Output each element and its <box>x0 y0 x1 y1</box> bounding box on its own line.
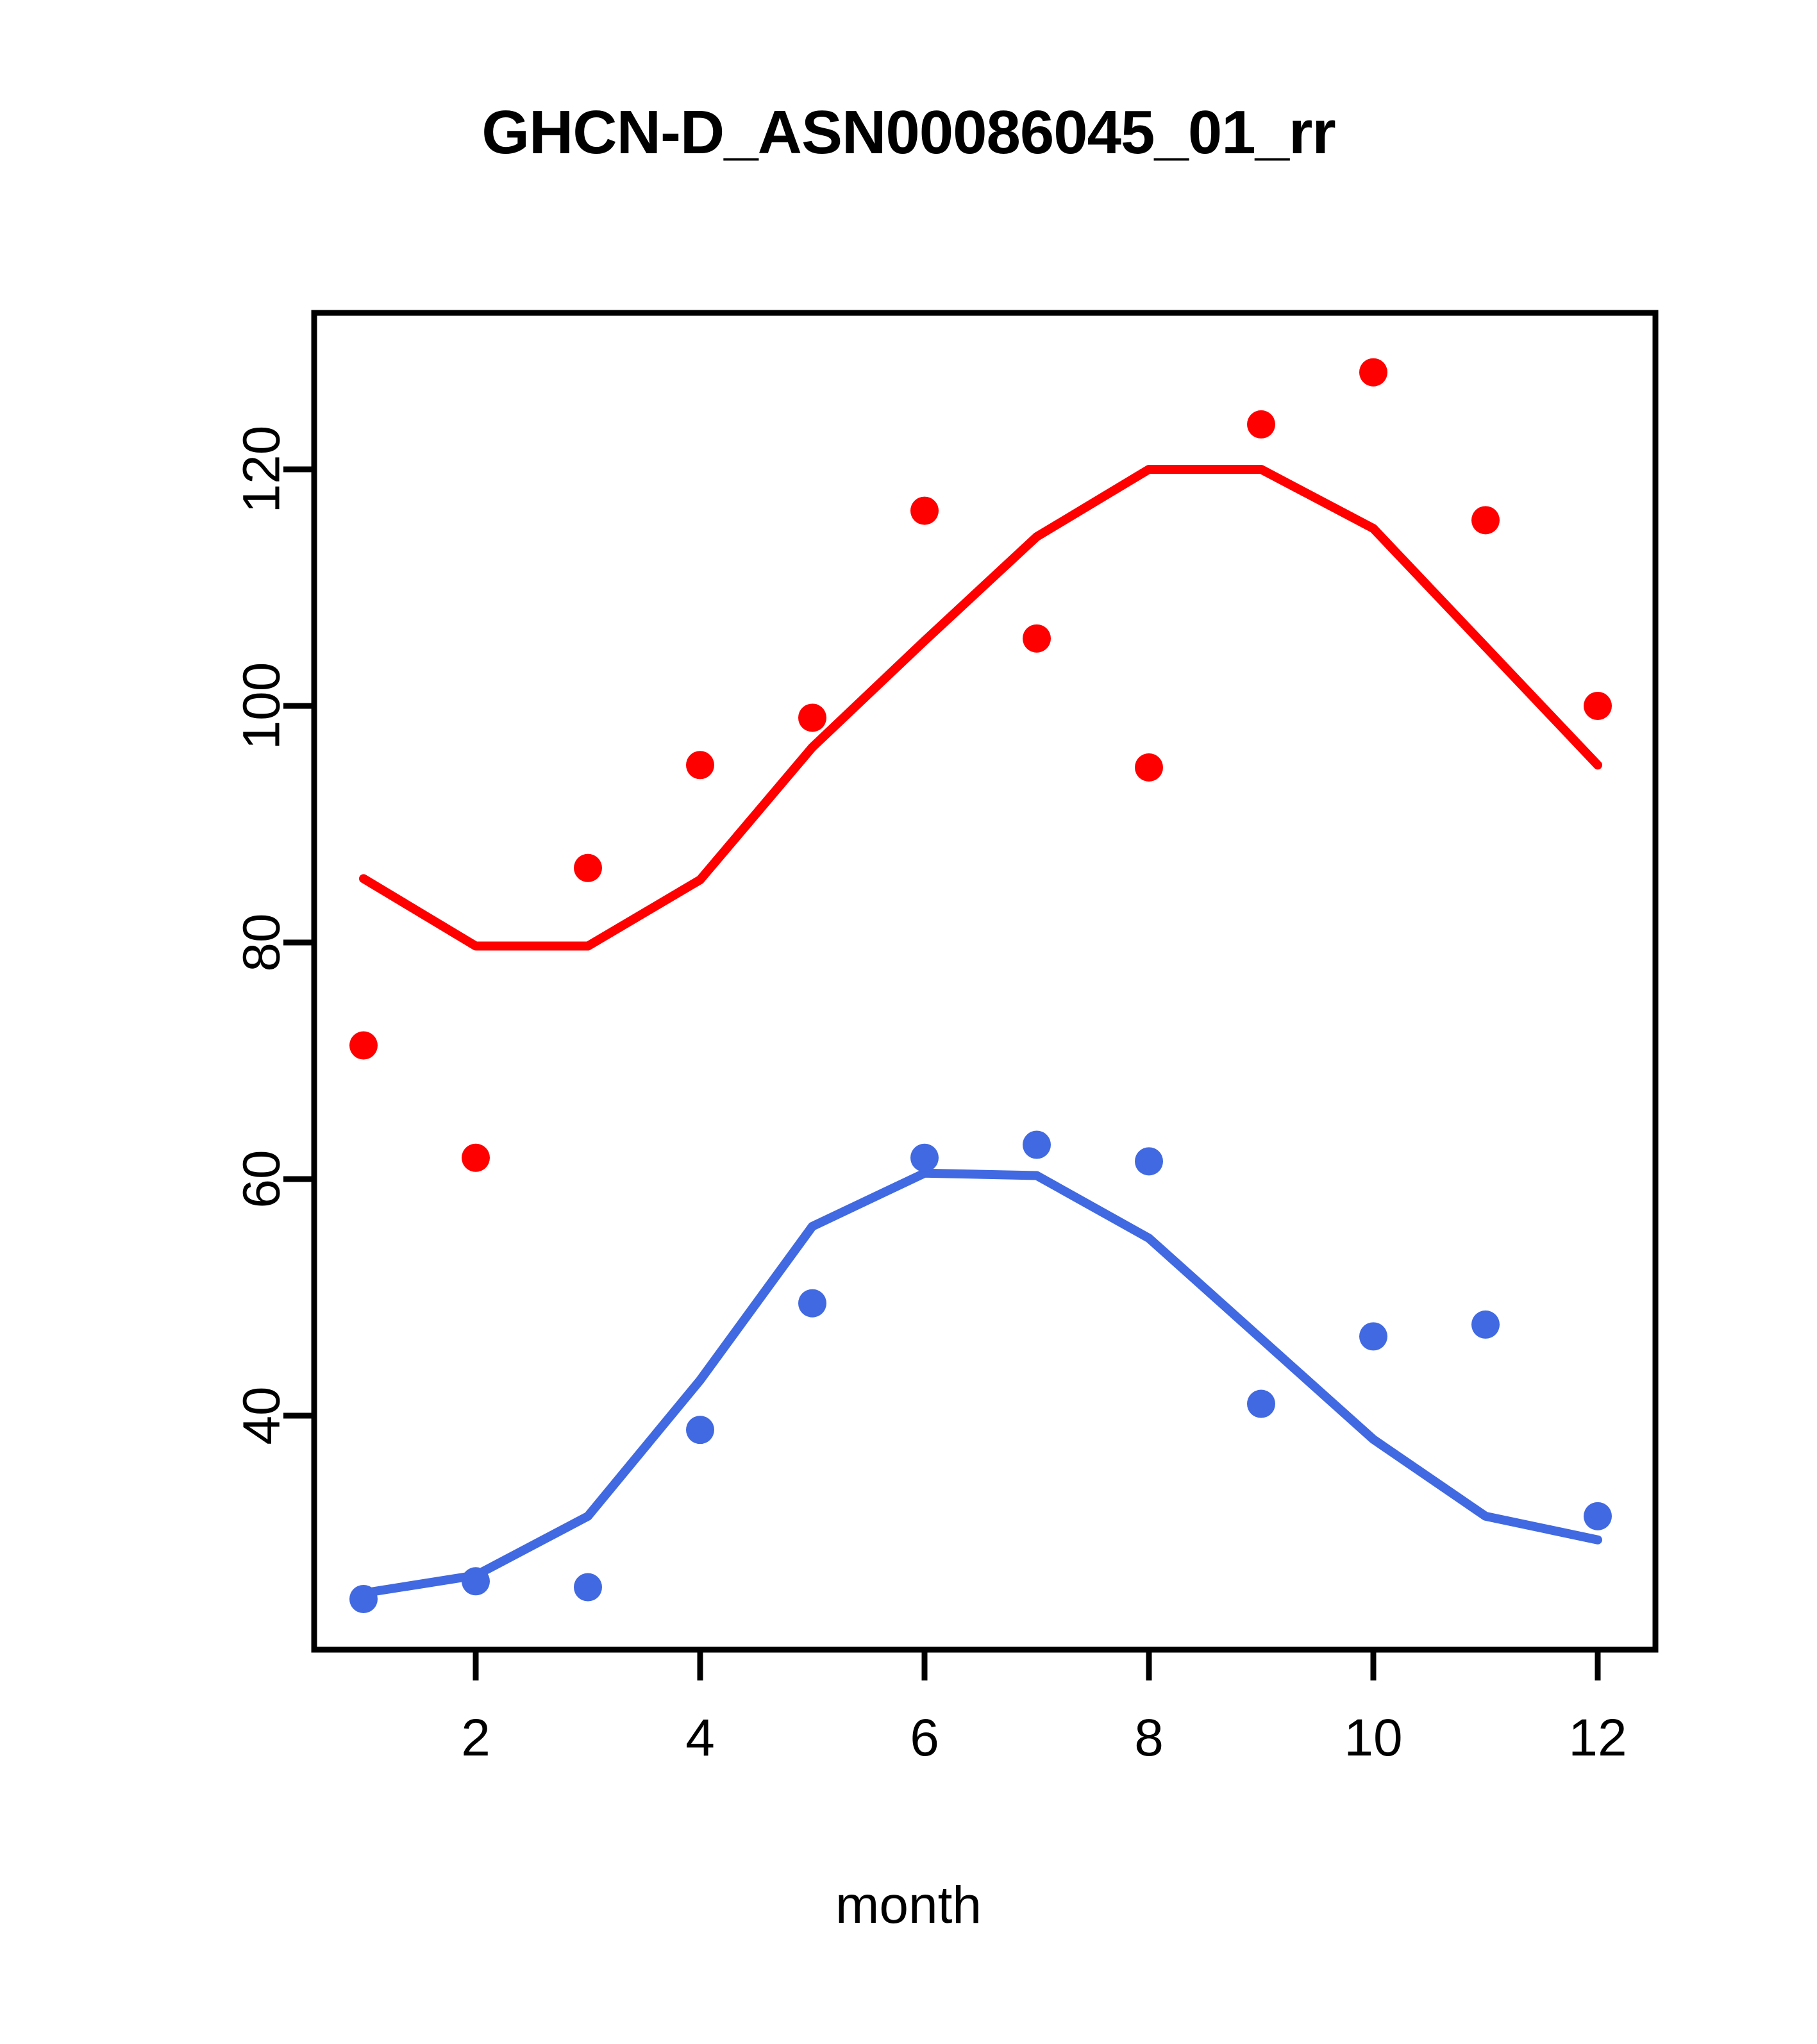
data-point <box>1247 1390 1275 1418</box>
data-point <box>1135 753 1163 782</box>
plot-root: GHCN-D_ASN00086045_01_rr 406080100120 24… <box>0 0 1817 2044</box>
y-axis-tick-label: 60 <box>233 1150 291 1208</box>
y-axis-tick-label: 100 <box>233 662 291 750</box>
data-point <box>349 1585 378 1613</box>
plot-frame <box>314 313 1655 1650</box>
x-axis-tick-label: 6 <box>910 1709 939 1767</box>
data-point <box>910 1144 939 1172</box>
x-axis-tick-label: 4 <box>685 1709 715 1767</box>
data-point <box>686 751 714 779</box>
series-line-min <box>364 1173 1598 1593</box>
x-axis-ticks <box>476 1650 1598 1680</box>
x-axis-label: month <box>0 1875 1817 1936</box>
y-axis-tick-labels: 406080100120 <box>233 426 291 1445</box>
data-point <box>910 497 939 525</box>
data-point <box>574 1573 602 1602</box>
data-point <box>1471 1311 1500 1339</box>
x-axis-tick-label: 2 <box>461 1709 490 1767</box>
data-point <box>1135 1147 1163 1175</box>
series-points-max <box>349 358 1612 1172</box>
data-point <box>1471 506 1500 534</box>
data-point <box>1584 692 1612 720</box>
x-axis: 24681012 <box>461 1650 1627 1767</box>
x-axis-tick-label: 10 <box>1344 1709 1402 1767</box>
x-axis-tick-label: 8 <box>1134 1709 1164 1767</box>
y-axis-tick-label: 120 <box>233 426 291 514</box>
data-point <box>462 1567 490 1595</box>
data-point <box>1359 1322 1387 1350</box>
data-point <box>798 1289 826 1318</box>
x-axis-tick-label: 12 <box>1568 1709 1627 1767</box>
data-point <box>686 1416 714 1444</box>
y-axis: 406080100120 <box>233 426 315 1445</box>
data-point <box>1023 624 1051 653</box>
data-point <box>798 703 826 732</box>
y-axis-tick-label: 40 <box>233 1386 291 1445</box>
x-axis-tick-labels: 24681012 <box>461 1709 1627 1767</box>
series-line-max <box>364 469 1598 946</box>
data-point <box>1023 1130 1051 1159</box>
chart-canvas: 406080100120 24681012 <box>0 0 1817 2044</box>
data-point <box>1359 358 1387 387</box>
y-axis-tick-label: 80 <box>233 913 291 971</box>
data-point <box>574 854 602 882</box>
data-point <box>462 1144 490 1172</box>
data-point <box>1584 1502 1612 1530</box>
data-point <box>1247 410 1275 439</box>
data-point <box>349 1032 378 1060</box>
